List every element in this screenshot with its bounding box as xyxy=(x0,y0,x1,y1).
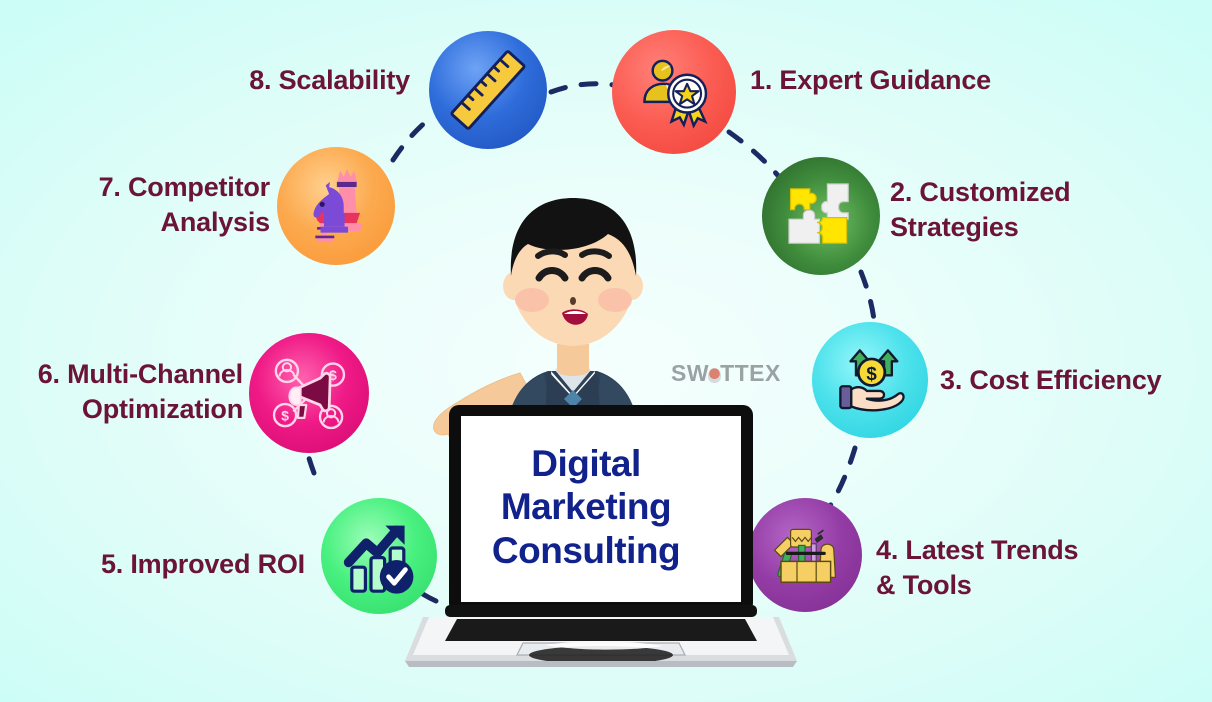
node-circle-7-competitor-analysis[interactable] xyxy=(277,147,395,265)
item-label-6: 6. Multi-Channel Optimization xyxy=(0,357,243,427)
expert-award-icon xyxy=(633,51,715,133)
laptop-screen-title: Digital Marketing Consulting xyxy=(452,420,720,594)
node-circle-3-cost-efficiency[interactable]: $ xyxy=(812,322,928,438)
node-circle-2-customized-strategies[interactable] xyxy=(762,157,880,275)
item-label-1: 1. Expert Guidance xyxy=(750,63,991,98)
item-label-8: 8. Scalability xyxy=(160,63,410,98)
megaphone-network-icon: $$ xyxy=(263,347,355,439)
item-label-5: 5. Improved ROI xyxy=(20,547,305,582)
hand-coin-growth-icon: $ xyxy=(831,341,909,419)
screen-line-2: Marketing xyxy=(501,485,671,529)
node-circle-8-scalability[interactable] xyxy=(429,31,547,149)
item-label-4: 4. Latest Trends & Tools xyxy=(876,533,1078,603)
item-label-3: 3. Cost Efficiency xyxy=(940,363,1161,398)
watermark-text-after: TTEX xyxy=(720,360,781,386)
item-label-7: 7. Competitor Analysis xyxy=(30,170,270,240)
svg-text:$: $ xyxy=(281,409,289,424)
infographic-canvas: 1. Expert Guidance 2. Customized Strateg… xyxy=(0,0,1212,702)
chess-pieces-icon xyxy=(293,163,379,249)
node-circle-6-multi-channel-optimization[interactable]: $$ xyxy=(249,333,369,453)
watermark-swottex: SWTTEX xyxy=(671,360,781,387)
node-circle-1-expert-guidance[interactable] xyxy=(612,30,736,154)
ruler-icon xyxy=(440,42,536,138)
screen-line-3: Consulting xyxy=(492,529,680,573)
puzzle-pieces-icon xyxy=(781,176,861,256)
svg-text:$: $ xyxy=(866,363,877,384)
watermark-text-before: SW xyxy=(671,360,709,386)
item-label-2: 2. Customized Strategies xyxy=(890,175,1070,245)
screen-line-1: Digital xyxy=(531,442,641,486)
